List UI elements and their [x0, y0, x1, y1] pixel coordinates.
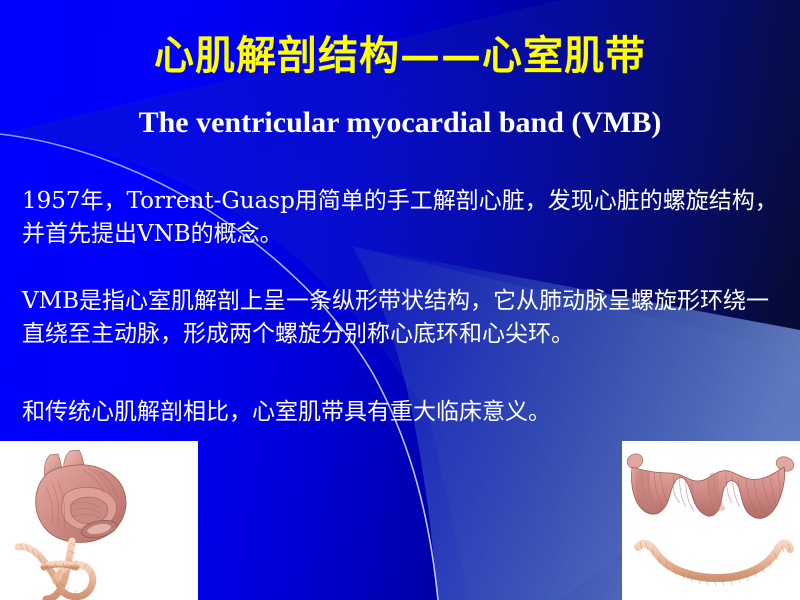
presentation-slide: 心肌解剖结构——心室肌带 The ventricular myocardial … — [0, 0, 800, 600]
right-panel-figures — [622, 441, 800, 600]
straight-rope-illustration — [638, 542, 790, 586]
right-image-panel — [622, 441, 800, 600]
body-paragraph-2: VMB是指心室肌解剖上呈一条纵形带状结构，它从肺动脉呈螺旋形环绕一直绕至主动脉，… — [22, 285, 782, 351]
slide-title-chinese: 心肌解剖结构——心室肌带 — [0, 34, 800, 79]
left-panel-figures — [0, 441, 198, 600]
heart-illustration — [36, 450, 126, 542]
slide-title-english: The ventricular myocardial band (VMB) — [0, 106, 800, 139]
knotted-rope-illustration — [18, 541, 93, 599]
unrolled-myocardial-band-illustration — [625, 451, 796, 518]
left-image-panel — [0, 441, 198, 600]
body-paragraph-3: 和传统心肌解剖相比，心室肌带具有重大临床意义。 — [22, 396, 782, 429]
body-paragraph-1: 1957年，Torrent-Guasp用简单的手工解剖心脏，发现心脏的螺旋结构，… — [22, 185, 782, 251]
